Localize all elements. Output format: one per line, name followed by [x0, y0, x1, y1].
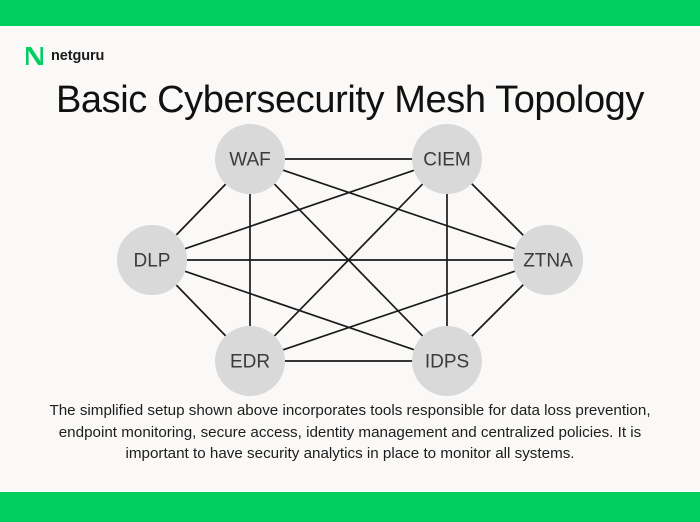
mesh-edge	[185, 170, 414, 248]
mesh-edge	[472, 285, 524, 337]
node-edr[interactable]: EDR	[215, 326, 285, 396]
node-ciem[interactable]: CIEM	[412, 124, 482, 194]
mesh-edge	[176, 285, 225, 336]
node-dlp[interactable]: DLP	[117, 225, 187, 295]
node-label: EDR	[230, 351, 270, 372]
mesh-edge	[283, 271, 515, 350]
node-label: WAF	[229, 149, 271, 170]
node-label: CIEM	[423, 149, 471, 170]
node-waf[interactable]: WAF	[215, 124, 285, 194]
mesh-edge	[176, 184, 225, 235]
brand-name: netguru	[51, 49, 104, 64]
node-label: IDPS	[425, 351, 469, 372]
bottom-accent-bar	[0, 492, 700, 522]
page-title: Basic Cybersecurity Mesh Topology	[0, 80, 700, 122]
caption-text: The simplified setup shown above incorpo…	[40, 400, 660, 465]
slide-canvas: netguru Basic Cybersecurity Mesh Topolog…	[0, 0, 700, 522]
slide-content: netguru Basic Cybersecurity Mesh Topolog…	[0, 26, 700, 492]
node-ztna[interactable]: ZTNA	[513, 225, 583, 295]
netguru-n-logo-icon	[26, 47, 43, 65]
node-label: ZTNA	[523, 250, 573, 271]
mesh-edge	[472, 184, 524, 236]
brand-logo: netguru	[26, 46, 700, 66]
top-accent-bar	[0, 0, 700, 26]
mesh-topology-diagram: WAFCIEMDLPZTNAEDRIDPS	[0, 124, 700, 404]
node-idps[interactable]: IDPS	[412, 326, 482, 396]
node-label: DLP	[134, 250, 171, 271]
mesh-edge	[185, 271, 414, 349]
edge-layer	[176, 159, 523, 361]
mesh-edge	[283, 170, 515, 249]
